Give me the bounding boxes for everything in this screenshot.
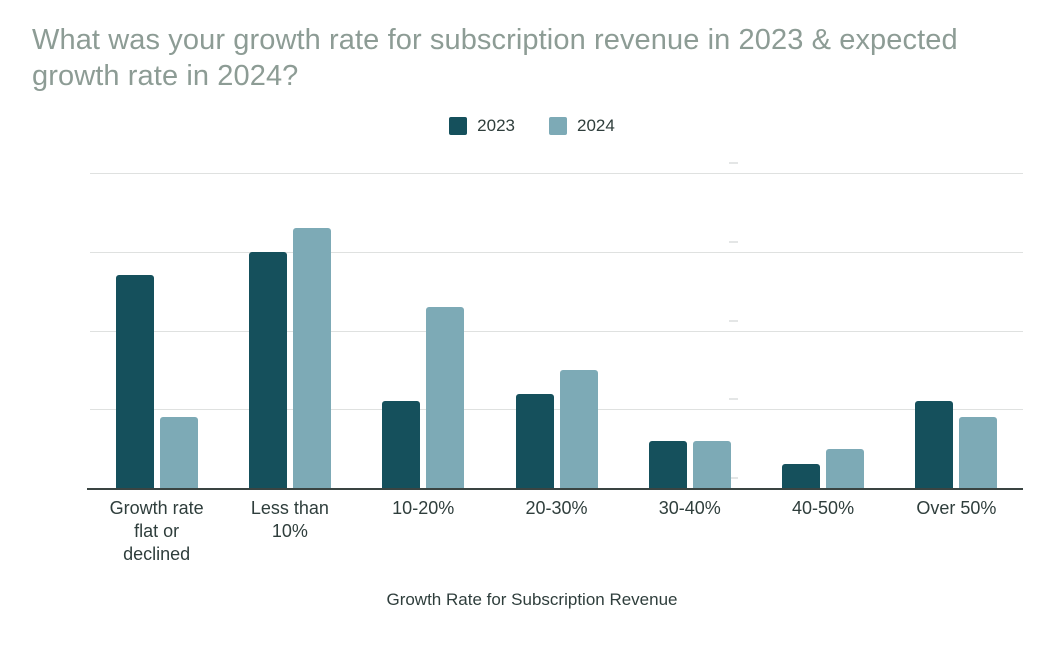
legend-swatch-2024: [549, 117, 567, 135]
x-axis-line: [87, 488, 1023, 490]
bar-2023[interactable]: [649, 441, 687, 488]
x-axis-label: Growth rate flat or declined: [90, 497, 223, 566]
x-axis-label: Over 50%: [890, 497, 1023, 520]
bar-2023[interactable]: [116, 275, 154, 488]
legend-label-2023: 2023: [477, 116, 515, 136]
bar-2024[interactable]: [426, 307, 464, 488]
bar-group: [516, 173, 598, 488]
bar-2023[interactable]: [782, 464, 820, 488]
y-axis-tick-mark: [729, 163, 738, 164]
bar-group: [915, 173, 997, 488]
chart-title: What was your growth rate for subscripti…: [32, 22, 1022, 94]
x-axis-label: 20-30%: [490, 497, 623, 520]
bar-chart: What was your growth rate for subscripti…: [0, 0, 1064, 648]
bar-group: [116, 173, 198, 488]
plot-area: 0%10%20%30%40% Growth rate flat or decli…: [90, 173, 1023, 488]
bar-2023[interactable]: [249, 252, 287, 488]
x-axis-label: 10-20%: [357, 497, 490, 520]
legend-item-2023[interactable]: 2023: [449, 116, 515, 136]
x-axis-label: Less than 10%: [223, 497, 356, 543]
x-axis-title: Growth Rate for Subscription Revenue: [0, 590, 1064, 610]
legend-label-2024: 2024: [577, 116, 615, 136]
bar-2024[interactable]: [693, 441, 731, 488]
x-axis-label: 40-50%: [756, 497, 889, 520]
bar-2024[interactable]: [293, 228, 331, 488]
bar-group: [782, 173, 864, 488]
bar-group: [382, 173, 464, 488]
bar-group: [249, 173, 331, 488]
bar-2024[interactable]: [560, 370, 598, 488]
legend-item-2024[interactable]: 2024: [549, 116, 615, 136]
bar-2023[interactable]: [516, 394, 554, 489]
legend-swatch-2023: [449, 117, 467, 135]
x-axis-label: 30-40%: [623, 497, 756, 520]
bar-group: [649, 173, 731, 488]
bar-2024[interactable]: [826, 449, 864, 488]
bar-2023[interactable]: [382, 401, 420, 488]
chart-legend: 2023 2024: [0, 116, 1064, 136]
bar-2024[interactable]: [959, 417, 997, 488]
bar-2024[interactable]: [160, 417, 198, 488]
bar-2023[interactable]: [915, 401, 953, 488]
